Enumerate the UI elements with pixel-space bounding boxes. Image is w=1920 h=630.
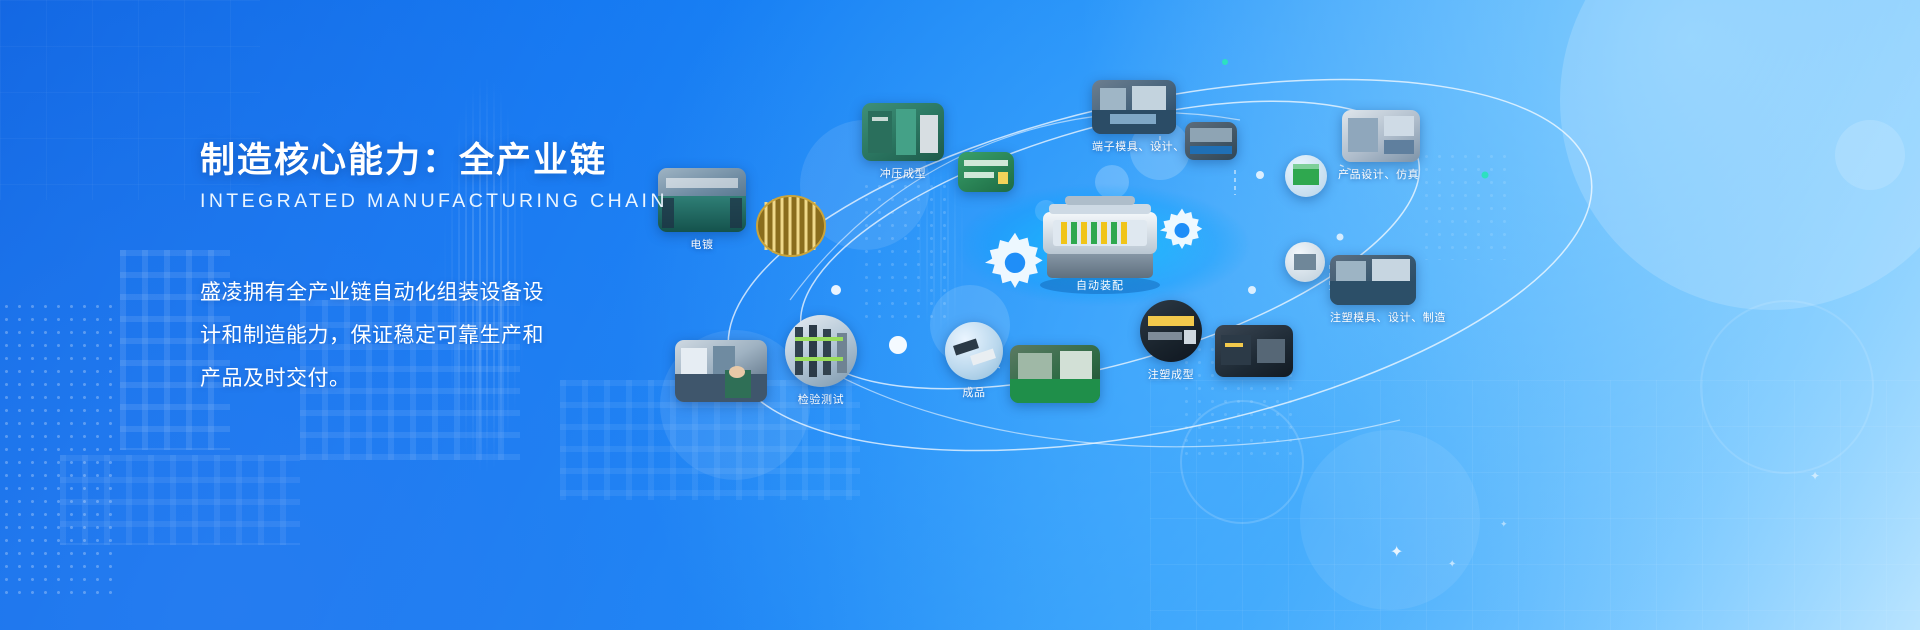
finished-product-thumbnail (945, 322, 1003, 380)
small-mould-art (1285, 242, 1325, 282)
injection-mold-thumbnail (1330, 255, 1416, 305)
terminal-mold-thumbnail (1092, 80, 1176, 134)
hero-copy: 制造核心能力：全产业链 INTEGRATED MANUFACTURING CHA… (200, 140, 820, 401)
mould-block-thumbnail (1185, 122, 1237, 160)
injection-molding-thumbnail (1140, 300, 1202, 362)
assembly-line-art (1010, 345, 1100, 403)
square-matrix (60, 455, 300, 545)
product-design-thumbnail (1342, 110, 1420, 162)
node-label: 注塑成型 (1140, 368, 1202, 382)
equipment-art (1215, 325, 1293, 377)
pcb-thumbnail (958, 152, 1014, 192)
cad-cube-thumbnail (1285, 155, 1327, 197)
page-title: 制造核心能力：全产业链 (200, 140, 820, 182)
node-label: 产品设计、仿真 (1338, 168, 1420, 182)
equipment-thumbnail (1215, 325, 1293, 377)
node-label: 注塑模具、设计、制造 (1330, 311, 1446, 325)
assembly-line-thumbnail (1010, 345, 1100, 403)
mould-block-art (1185, 122, 1237, 160)
dot-matrix (0, 300, 120, 600)
node-injection-mold[interactable]: 注塑模具、设计、制造 (1330, 255, 1446, 325)
node-label: 冲压成型 (862, 167, 944, 181)
hero-description: 盛凌拥有全产业链自动化组装设备设计和制造能力，保证稳定可靠生产和产品及时交付。 (200, 271, 560, 400)
gear-icon (1160, 205, 1204, 249)
gear-icon (985, 228, 1045, 288)
node-injection-molding[interactable]: 注塑成型 (1140, 300, 1202, 382)
node-finished-product[interactable]: 成品 (945, 322, 1003, 400)
cad-cube-art (1285, 155, 1327, 197)
manufacturing-chain-diagram: 自动装配 电镀 (640, 0, 1920, 630)
node-stamping[interactable]: 冲压成型 (862, 103, 944, 181)
stamping-thumbnail (862, 103, 944, 161)
node-label: 成品 (945, 386, 1003, 400)
hero-banner: ✦ ✦ ✦ ✦ 制造核心能力：全产业链 INTEGRATED MANUFACTU… (0, 0, 1920, 630)
small-mould-thumbnail (1285, 242, 1325, 282)
node-product-design[interactable]: 产品设计、仿真 (1342, 110, 1420, 182)
page-subtitle: INTEGRATED MANUFACTURING CHAIN (200, 190, 820, 213)
pcb-module-art (958, 152, 1014, 192)
hub-label: 自动装配 (1040, 277, 1160, 293)
